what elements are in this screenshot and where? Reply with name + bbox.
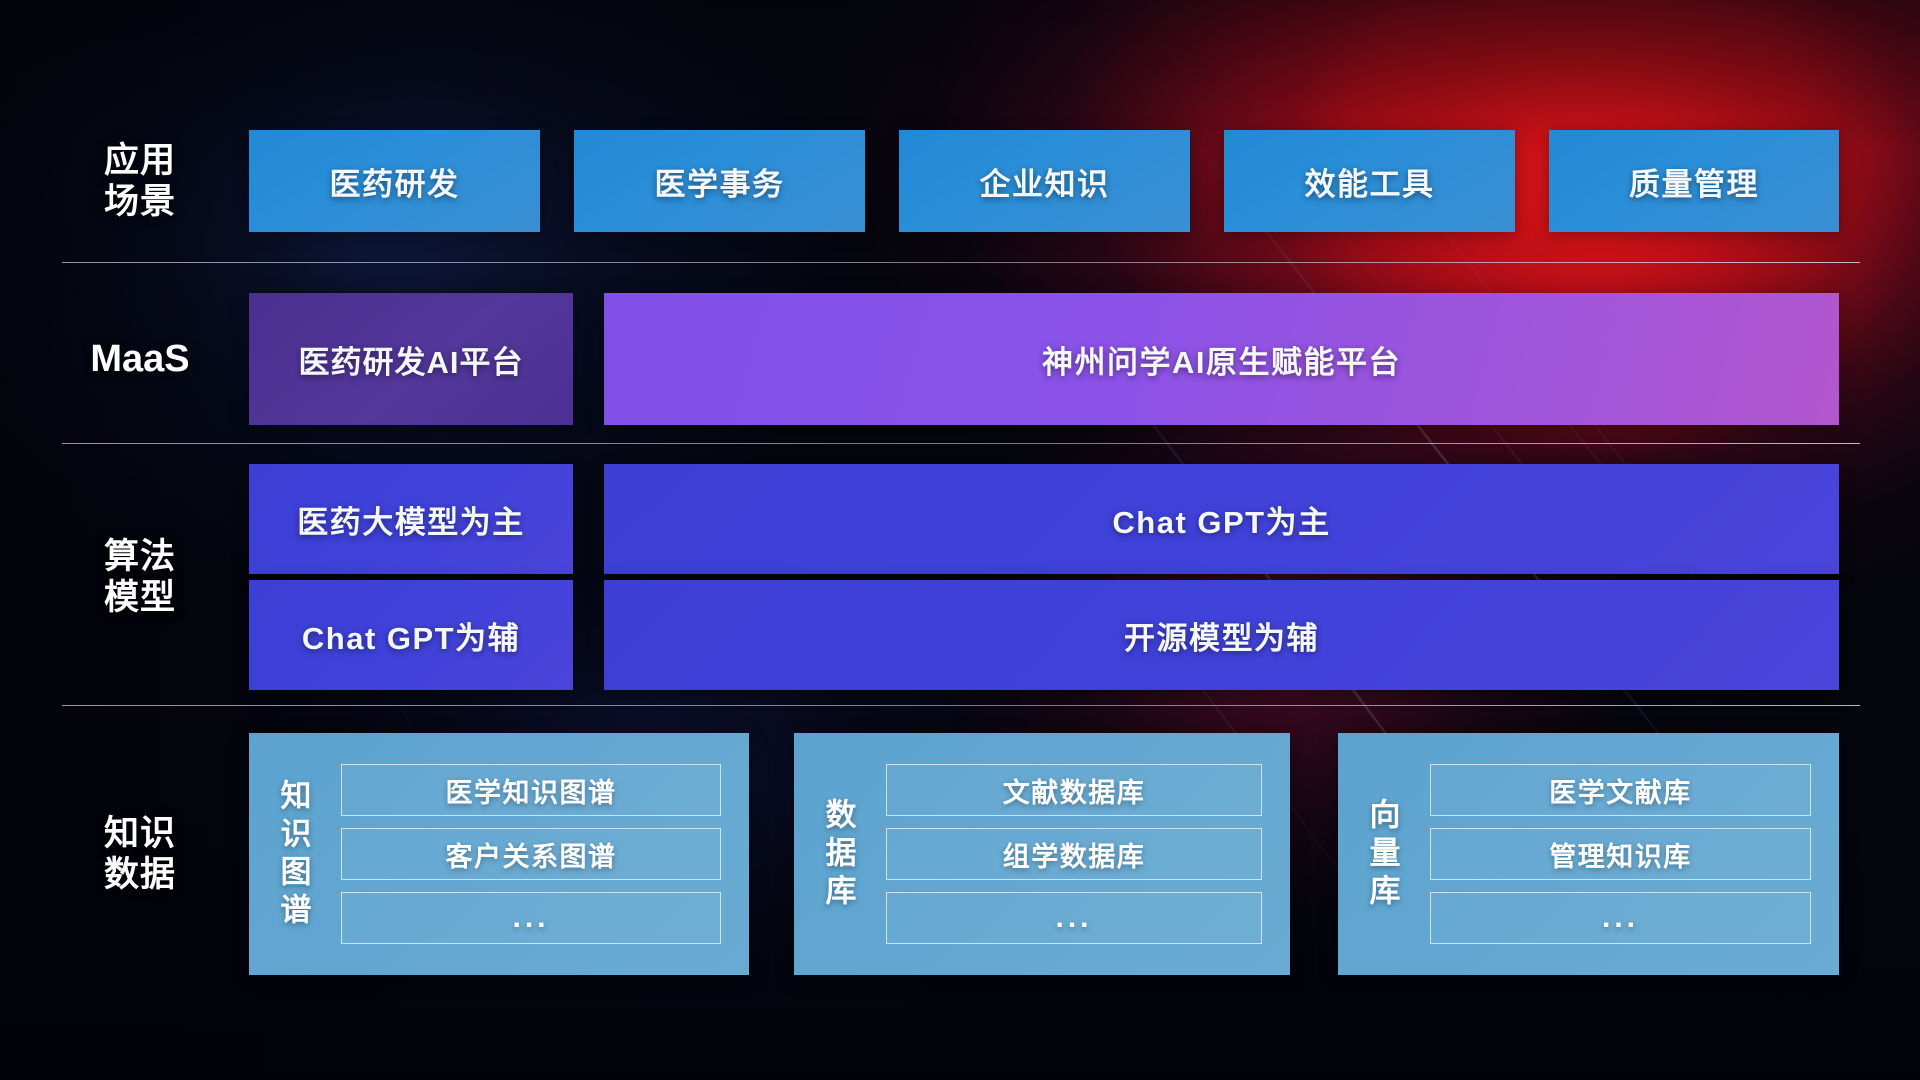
app-box-3[interactable]: 企业知识 xyxy=(899,130,1190,232)
row-label-kd-line-2: 数据 xyxy=(60,854,220,895)
model-box-secondary-opensource-label: 开源模型为辅 xyxy=(1124,613,1319,658)
model-box-primary-chatgpt[interactable]: Chat GPT为主 xyxy=(604,464,1839,574)
knowledge-card-vector-item-1[interactable]: 医学文献库 xyxy=(1430,764,1811,816)
model-box-secondary-opensource[interactable]: 开源模型为辅 xyxy=(604,580,1839,690)
row-label-maas: MaaS xyxy=(60,293,220,425)
app-box-4-label: 效能工具 xyxy=(1305,159,1435,204)
knowledge-card-vector-item-2[interactable]: 管理知识库 xyxy=(1430,828,1811,880)
app-box-2-label: 医学事务 xyxy=(655,159,785,204)
knowledge-card-vector-item-3[interactable]: ... xyxy=(1430,892,1811,944)
knowledge-card-database[interactable]: 数据库 文献数据库 组学数据库 ... xyxy=(794,733,1290,975)
knowledge-card-database-item-2[interactable]: 组学数据库 xyxy=(886,828,1262,880)
row-label-line-1: 应用 xyxy=(60,140,220,181)
maas-platform-pharma[interactable]: 医药研发AI平台 xyxy=(249,293,573,425)
app-box-4[interactable]: 效能工具 xyxy=(1224,130,1515,232)
app-box-3-label: 企业知识 xyxy=(980,159,1110,204)
knowledge-card-database-item-1[interactable]: 文献数据库 xyxy=(886,764,1262,816)
knowledge-card-graph[interactable]: 知识图谱 医学知识图谱 客户关系图谱 ... xyxy=(249,733,749,975)
row-label-alg-line-1: 算法 xyxy=(60,536,220,577)
maas-platform-shenzhou-label: 神州问学AI原生赋能平台 xyxy=(1042,337,1401,382)
knowledge-card-database-title: 数据库 xyxy=(794,733,882,975)
app-box-1-label: 医药研发 xyxy=(330,159,460,204)
maas-platform-shenzhou[interactable]: 神州问学AI原生赋能平台 xyxy=(604,293,1839,425)
row-label-application-scenarios: 应用 场景 xyxy=(60,130,220,232)
knowledge-card-graph-item-3[interactable]: ... xyxy=(341,892,721,944)
knowledge-card-database-items: 文献数据库 组学数据库 ... xyxy=(882,733,1290,975)
knowledge-card-graph-items: 医学知识图谱 客户关系图谱 ... xyxy=(337,733,749,975)
app-box-5[interactable]: 质量管理 xyxy=(1549,130,1839,232)
model-box-secondary-chatgpt[interactable]: Chat GPT为辅 xyxy=(249,580,573,690)
divider-3 xyxy=(62,705,1860,706)
knowledge-card-graph-item-1[interactable]: 医学知识图谱 xyxy=(341,764,721,816)
knowledge-card-database-item-3[interactable]: ... xyxy=(886,892,1262,944)
architecture-diagram: 应用 场景 医药研发 医学事务 企业知识 效能工具 质量管理 MaaS 医药研发… xyxy=(0,0,1920,1080)
knowledge-card-graph-item-2[interactable]: 客户关系图谱 xyxy=(341,828,721,880)
knowledge-card-vector-title: 向量库 xyxy=(1338,733,1426,975)
row-label-knowledge-data: 知识 数据 xyxy=(60,733,220,975)
model-box-primary-pharma-label: 医药大模型为主 xyxy=(297,497,525,542)
maas-platform-pharma-label: 医药研发AI平台 xyxy=(299,337,524,382)
model-box-primary-chatgpt-label: Chat GPT为主 xyxy=(1112,497,1330,542)
row-label-kd-line-1: 知识 xyxy=(60,813,220,854)
model-box-secondary-chatgpt-label: Chat GPT为辅 xyxy=(302,613,520,658)
app-box-5-label: 质量管理 xyxy=(1629,159,1759,204)
row-label-maas-text: MaaS xyxy=(90,337,189,382)
model-box-primary-pharma[interactable]: 医药大模型为主 xyxy=(249,464,573,574)
knowledge-card-vector[interactable]: 向量库 医学文献库 管理知识库 ... xyxy=(1338,733,1839,975)
row-label-algorithm-models: 算法 模型 xyxy=(60,464,220,690)
row-label-alg-line-2: 模型 xyxy=(60,577,220,618)
divider-1 xyxy=(62,262,1860,263)
app-box-2[interactable]: 医学事务 xyxy=(574,130,865,232)
knowledge-card-graph-title: 知识图谱 xyxy=(249,733,337,975)
row-label-line-2: 场景 xyxy=(60,181,220,222)
app-box-1[interactable]: 医药研发 xyxy=(249,130,540,232)
knowledge-card-vector-items: 医学文献库 管理知识库 ... xyxy=(1426,733,1839,975)
divider-2 xyxy=(62,443,1860,444)
